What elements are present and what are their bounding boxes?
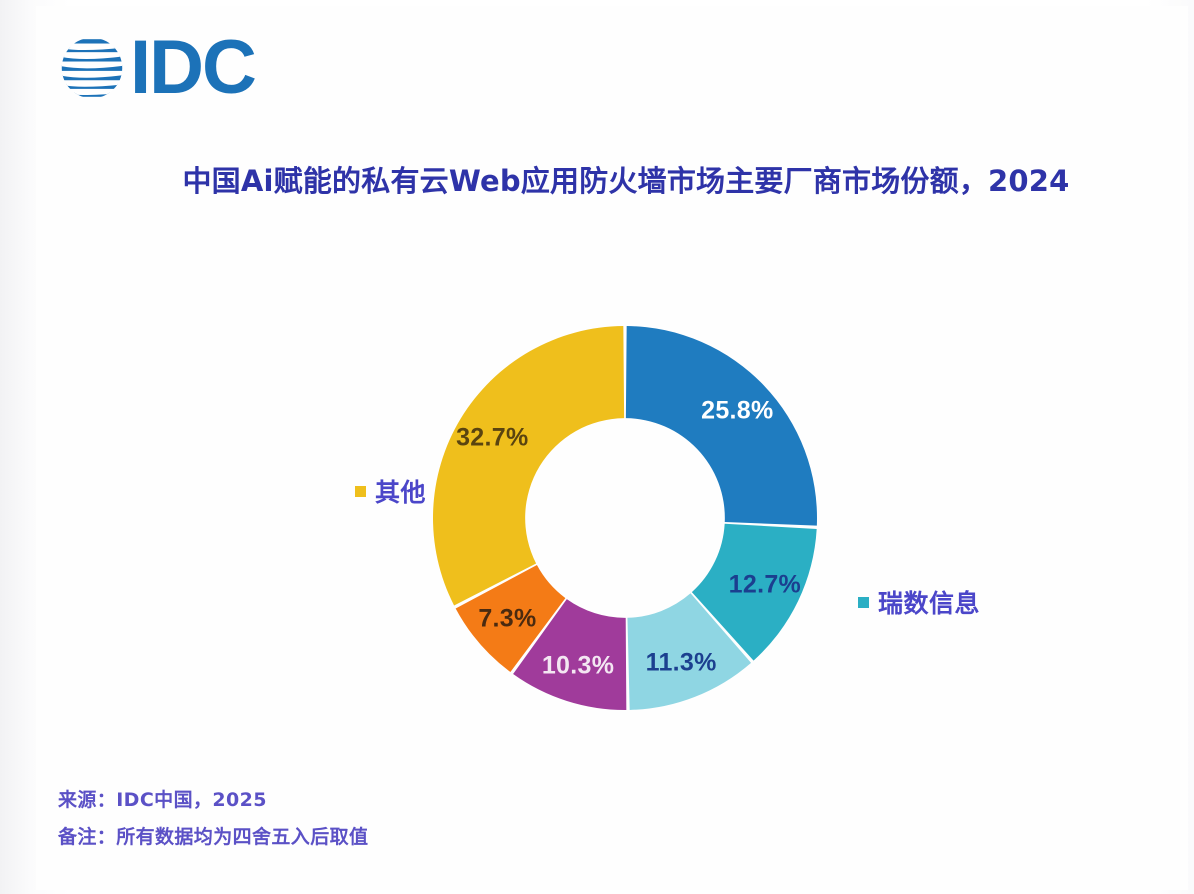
- slice-percent-label: 12.7%: [729, 571, 801, 600]
- donut-slice[interactable]: [456, 565, 566, 672]
- slice-percent-label: 32.7%: [456, 423, 528, 452]
- slice-percent-label: 7.3%: [478, 605, 536, 634]
- idc-wordmark: IDC: [130, 30, 255, 106]
- legend-item-ruishu-xinxi[interactable]: 瑞数信息: [858, 584, 980, 620]
- idc-globe-icon: [56, 32, 128, 104]
- slice-percent-label: 10.3%: [542, 651, 614, 680]
- legend-label-ruishu-xinxi: 瑞数信息: [878, 584, 980, 620]
- legend-label-qita: 其他: [375, 473, 426, 509]
- slide-sheet: IDC 中国Ai赋能的私有云Web应用防火墙市场主要厂商市场份额，2024 25…: [36, 6, 1188, 890]
- footer-notes: 来源：IDC中国，2025 备注：所有数据均为四舍五入后取值: [58, 782, 368, 856]
- slice-percent-label: 11.3%: [646, 648, 717, 677]
- donut-slices: [433, 326, 817, 710]
- donut-slice[interactable]: [692, 524, 817, 661]
- donut-chart-svg: [395, 288, 855, 748]
- footer-note: 备注：所有数据均为四舍五入后取值: [58, 819, 368, 856]
- chart-title: 中国Ai赋能的私有云Web应用防火墙市场主要厂商市场份额，2024: [156, 158, 1096, 205]
- donut-chart: 25.8%12.7%11.3%10.3%7.3%32.7%: [36, 6, 1188, 890]
- donut-slice[interactable]: [513, 599, 626, 710]
- legend-swatch-qita: [355, 486, 366, 497]
- legend-item-qita[interactable]: 其他: [355, 473, 426, 509]
- donut-slice[interactable]: [627, 593, 751, 710]
- page-background: IDC 中国Ai赋能的私有云Web应用防火墙市场主要厂商市场份额，2024 25…: [0, 0, 1194, 894]
- footer-source: 来源：IDC中国，2025: [58, 782, 368, 819]
- donut-slice[interactable]: [626, 326, 817, 526]
- idc-logo: IDC: [56, 30, 255, 106]
- legend-swatch-ruishu-xinxi: [858, 597, 869, 608]
- slice-percent-label: 25.8%: [701, 397, 773, 426]
- donut-slice[interactable]: [433, 326, 624, 605]
